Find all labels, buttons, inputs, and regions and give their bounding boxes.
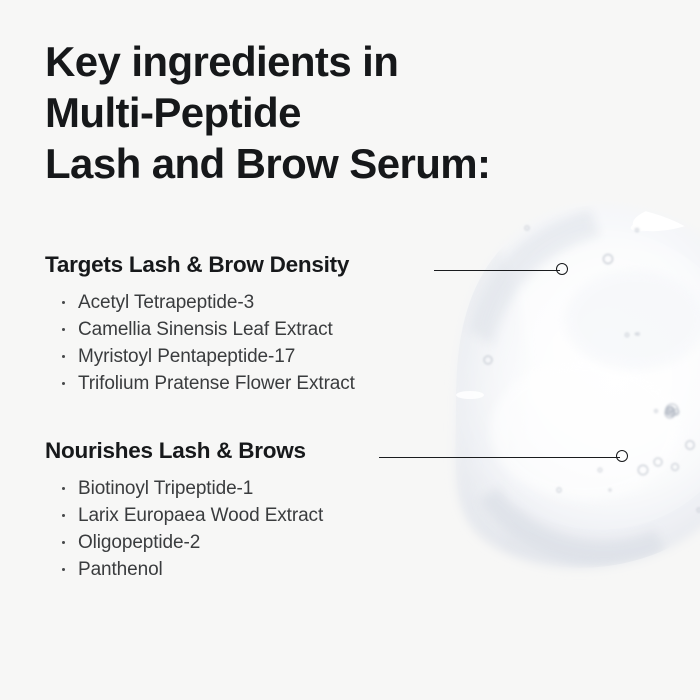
list-item: Larix Europaea Wood Extract: [45, 502, 465, 529]
list-item: Biotinoyl Tripeptide-1: [45, 475, 465, 502]
title-line-3: Lash and Brow Serum:: [45, 138, 565, 189]
infographic-canvas: Key ingredients in Multi-Peptide Lash an…: [0, 0, 700, 700]
bullet-dot-icon: [62, 328, 65, 331]
ingredient-section: Targets Lash & Brow Density Acetyl Tetra…: [45, 251, 465, 397]
bullet-dot-icon: [62, 568, 65, 571]
title-line-2: Multi-Peptide: [45, 87, 565, 138]
list-item: Camellia Sinensis Leaf Extract: [45, 316, 465, 343]
list-item: Trifolium Pratense Flower Extract: [45, 370, 465, 397]
ingredient-list: Acetyl Tetrapeptide-3 Camellia Sinensis …: [45, 289, 465, 397]
list-item: Panthenol: [45, 556, 465, 583]
ingredient-section: Nourishes Lash & Brows Biotinoyl Tripept…: [45, 437, 465, 583]
section-heading-nourishes: Nourishes Lash & Brows: [45, 437, 465, 465]
bullet-dot-icon: [62, 382, 65, 385]
ingredient-label: Oligopeptide-2: [78, 532, 200, 553]
ingredient-label: Biotinoyl Tripeptide-1: [78, 478, 253, 499]
ingredient-label: Panthenol: [78, 559, 163, 580]
droplet-bubbles: [484, 226, 700, 512]
bullet-dot-icon: [62, 301, 65, 304]
section-heading-targets-density: Targets Lash & Brow Density: [45, 251, 465, 279]
ingredient-label: Acetyl Tetrapeptide-3: [78, 292, 254, 313]
ingredient-label: Camellia Sinensis Leaf Extract: [78, 319, 333, 340]
title-line-1: Key ingredients in: [45, 36, 565, 87]
bullet-dot-icon: [62, 514, 65, 517]
page-title: Key ingredients in Multi-Peptide Lash an…: [45, 36, 565, 189]
list-item: Oligopeptide-2: [45, 529, 465, 556]
list-item: Acetyl Tetrapeptide-3: [45, 289, 465, 316]
ingredient-list: Biotinoyl Tripeptide-1 Larix Europaea Wo…: [45, 475, 465, 583]
bullet-dot-icon: [62, 487, 65, 490]
list-item: Myristoyl Pentapeptide-17: [45, 343, 465, 370]
bullet-dot-icon: [62, 541, 65, 544]
ingredient-label: Larix Europaea Wood Extract: [78, 505, 323, 526]
circle-endpoint-icon: [556, 263, 568, 275]
ingredient-label: Trifolium Pratense Flower Extract: [78, 373, 355, 394]
circle-endpoint-icon: [616, 450, 628, 462]
bullet-dot-icon: [62, 355, 65, 358]
ingredient-label: Myristoyl Pentapeptide-17: [78, 346, 295, 367]
